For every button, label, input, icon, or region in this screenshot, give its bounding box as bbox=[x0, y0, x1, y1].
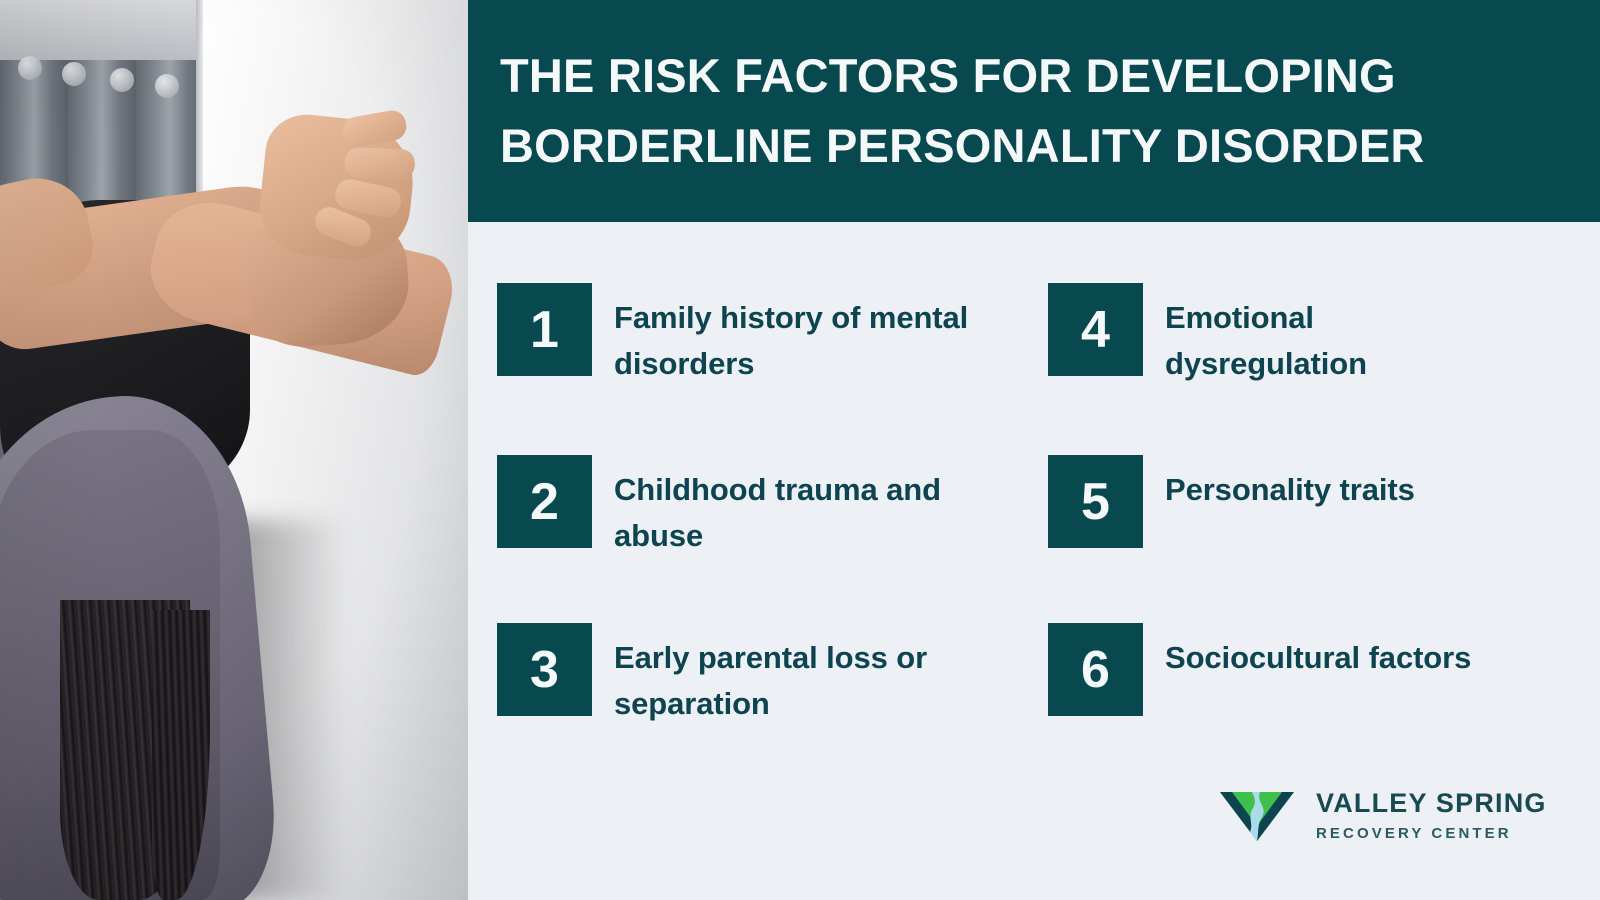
list-item[interactable]: 1 Family history of mental disorders bbox=[497, 283, 974, 386]
header-bar: THE RISK FACTORS FOR DEVELOPING BORDERLI… bbox=[468, 0, 1600, 222]
item-label: Family history of mental disorders bbox=[614, 283, 974, 386]
list-item[interactable]: 6 Sociocultural factors bbox=[1048, 623, 1471, 716]
list-item[interactable]: 3 Early parental loss or separation bbox=[497, 623, 974, 726]
item-label: Sociocultural factors bbox=[1165, 623, 1471, 681]
item-number-badge: 4 bbox=[1048, 283, 1143, 376]
brand-logo[interactable]: VALLEY SPRING RECOVERY CENTER bbox=[1216, 786, 1547, 844]
item-number-badge: 1 bbox=[497, 283, 592, 376]
item-number-badge: 5 bbox=[1048, 455, 1143, 548]
item-label: Childhood trauma and abuse bbox=[614, 455, 974, 558]
item-label: Emotional dysregulation bbox=[1165, 283, 1485, 386]
list-item[interactable]: 2 Childhood trauma and abuse bbox=[497, 455, 974, 558]
page-title: THE RISK FACTORS FOR DEVELOPING BORDERLI… bbox=[468, 41, 1508, 180]
item-label: Personality traits bbox=[1165, 455, 1415, 513]
hero-photo bbox=[0, 0, 468, 900]
item-number-badge: 6 bbox=[1048, 623, 1143, 716]
logo-text-block: VALLEY SPRING RECOVERY CENTER bbox=[1316, 790, 1547, 841]
list-item[interactable]: 4 Emotional dysregulation bbox=[1048, 283, 1485, 386]
item-number-badge: 3 bbox=[497, 623, 592, 716]
logo-name: VALLEY SPRING bbox=[1316, 790, 1547, 817]
valley-triangle-stream-icon bbox=[1216, 786, 1298, 844]
logo-tagline: RECOVERY CENTER bbox=[1316, 826, 1547, 841]
photo-vignette bbox=[0, 0, 468, 900]
item-number-badge: 2 bbox=[497, 455, 592, 548]
item-label: Early parental loss or separation bbox=[614, 623, 974, 726]
list-item[interactable]: 5 Personality traits bbox=[1048, 455, 1415, 548]
infographic-canvas: THE RISK FACTORS FOR DEVELOPING BORDERLI… bbox=[0, 0, 1600, 900]
